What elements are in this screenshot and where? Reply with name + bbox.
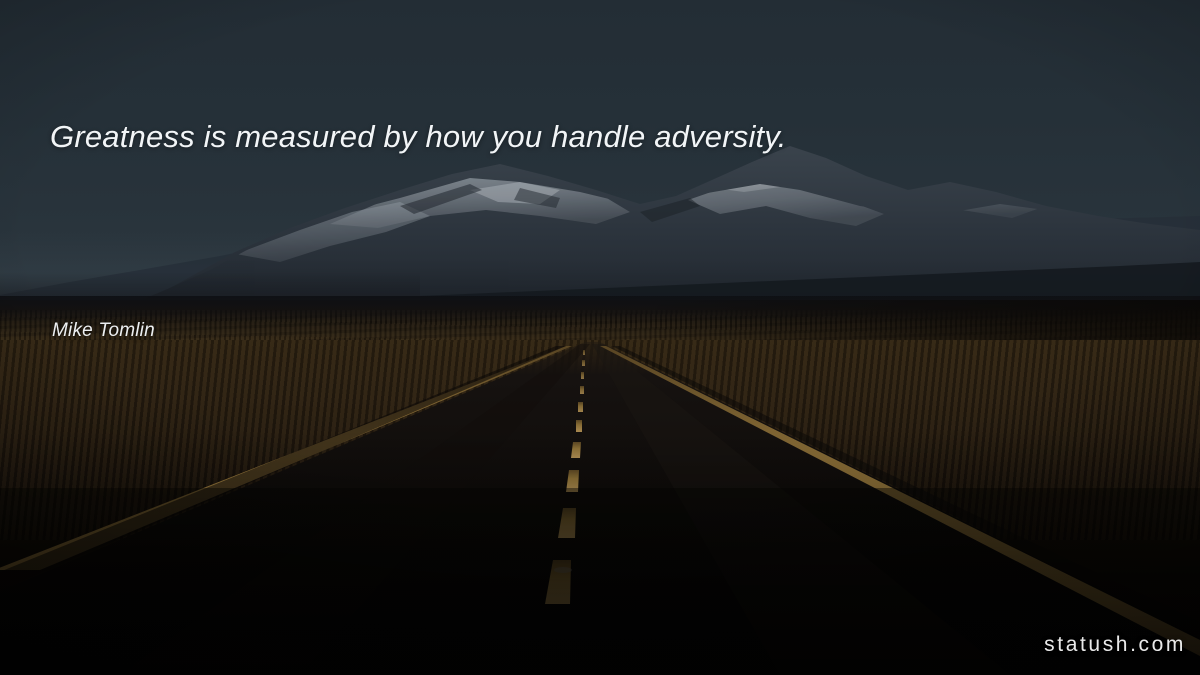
road xyxy=(0,338,1200,675)
quote-card: Greatness is measured by how you handle … xyxy=(0,0,1200,675)
site-watermark: statush.com xyxy=(1044,633,1186,657)
quote-text: Greatness is measured by how you handle … xyxy=(50,118,1050,157)
quote-author: Mike Tomlin xyxy=(52,320,155,342)
